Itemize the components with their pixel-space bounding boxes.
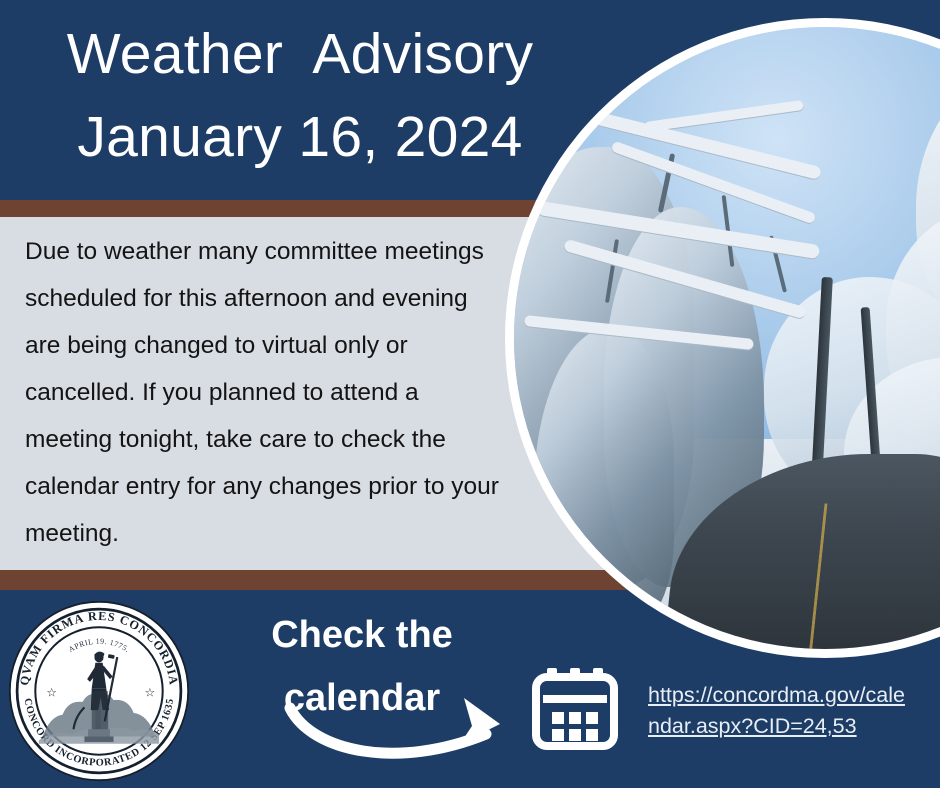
calendar-icon[interactable]: [532, 664, 618, 750]
title-line-2: January 16, 2024: [0, 96, 600, 178]
snow-laden-branch: [644, 100, 804, 132]
photo-artwork: [514, 27, 940, 649]
calendar-url-link[interactable]: https://concordma.gov/calendar.aspx?CID=…: [648, 680, 910, 742]
seal-star-left-icon: ☆: [46, 685, 57, 699]
seal-star-right-icon: ☆: [144, 685, 155, 699]
winter-road-photo: [505, 18, 940, 658]
advisory-body-text: Due to weather many committee meetings s…: [25, 228, 507, 557]
title-line-1: Weather Advisory: [0, 12, 600, 96]
concord-town-seal: QVAM FIRMA RES CONCORDIA CONCORD INCORPO…: [8, 600, 190, 782]
curved-arrow-right-icon: [278, 690, 528, 770]
photo-inner-circle: [514, 27, 940, 649]
page-title: Weather Advisory January 16, 2024: [0, 12, 600, 178]
cta-line-1: Check the: [212, 604, 512, 667]
weather-advisory-poster: Weather Advisory January 16, 2024 Due to…: [0, 0, 940, 788]
